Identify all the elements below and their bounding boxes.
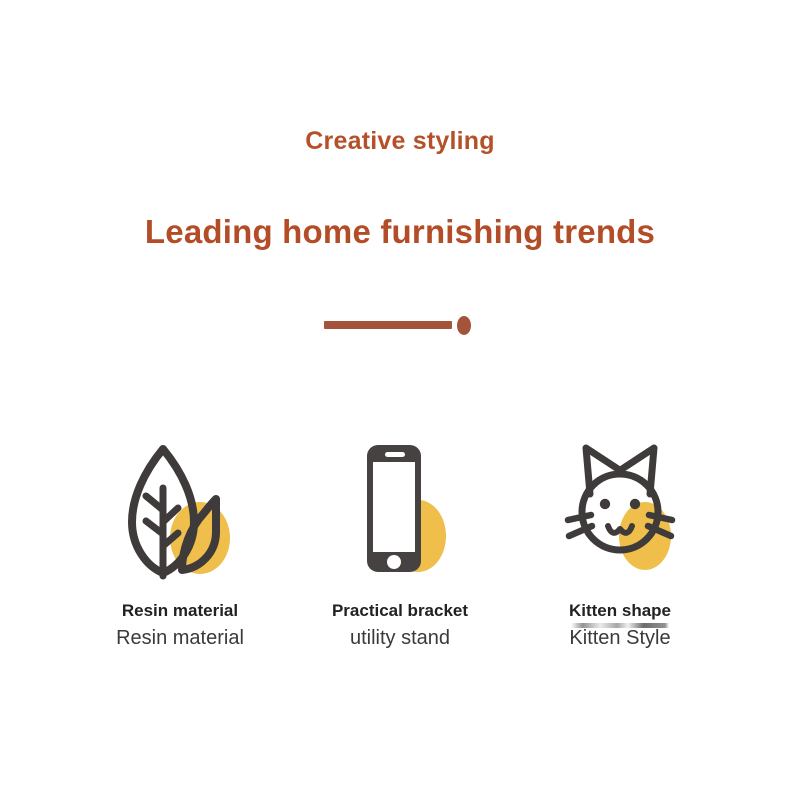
feature-label-primary: Practical bracket — [332, 601, 468, 621]
feature-list: Resin material Resin material — [70, 436, 730, 650]
feature-item-bracket: Practical bracket utility stand — [290, 436, 510, 650]
cat-face-icon — [560, 436, 680, 581]
divider-bar — [324, 321, 452, 329]
feature-item-resin: Resin material Resin material — [70, 436, 290, 650]
feature-labels: Resin material Resin material — [116, 601, 244, 650]
divider-inner — [324, 316, 476, 336]
feature-label-primary: Kitten shape — [569, 601, 671, 621]
smartphone-icon — [340, 436, 460, 581]
feature-label-secondary: Resin material — [116, 627, 244, 650]
divider — [0, 316, 800, 336]
promo-banner: Creative styling Leading home furnishing… — [0, 0, 800, 800]
eyebrow-text: Creative styling — [0, 128, 800, 156]
feature-labels: Practical bracket utility stand — [332, 601, 468, 650]
feature-item-kitten: Kitten shape Kitten Style — [510, 436, 730, 650]
feature-label-secondary: utility stand — [332, 627, 468, 650]
page-title: Leading home furnishing trends — [0, 214, 800, 250]
feature-label-secondary: Kitten Style — [569, 627, 671, 650]
heading-block: Creative styling Leading home furnishing… — [0, 128, 800, 250]
feature-label-primary: Resin material — [116, 601, 244, 621]
divider-dot — [457, 316, 471, 335]
feature-labels: Kitten shape Kitten Style — [569, 601, 671, 650]
leaf-icon — [120, 436, 240, 581]
